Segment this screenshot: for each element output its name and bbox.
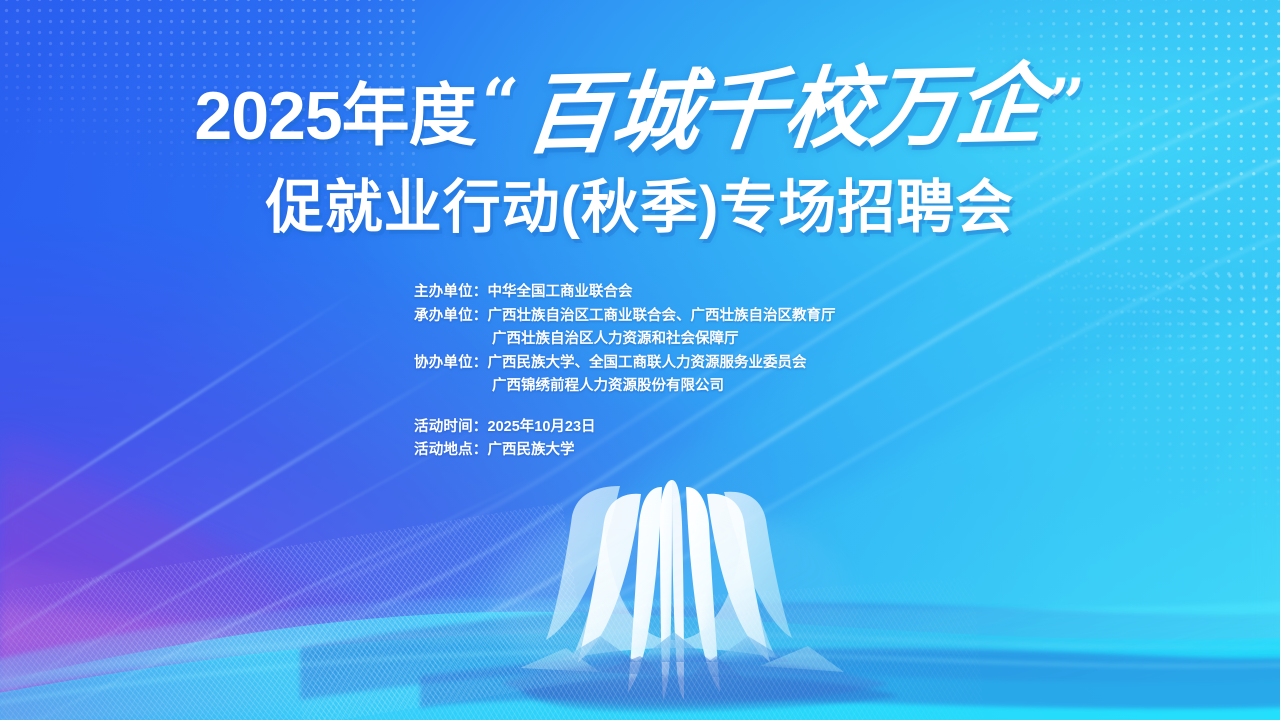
quote-open-mark: “ bbox=[482, 66, 520, 136]
poster-canvas: 2025年度 “ 百城千校万企 ” 促就业行动(秋季)专场招聘会 主办单位：中华… bbox=[0, 0, 1280, 720]
quote-close-mark: ” bbox=[1048, 66, 1086, 136]
organizer-value: 中华全国工商业联合会 bbox=[488, 284, 633, 300]
event-details-block: 主办单位：中华全国工商业联合会 承办单位：广西壮族自治区工商业联合会、广西壮族自… bbox=[414, 281, 836, 463]
detail-row-organizer: 主办单位：中华全国工商业联合会 bbox=[414, 281, 836, 305]
detail-spacer bbox=[414, 399, 836, 416]
detail-row-date: 活动时间：2025年10月23日 bbox=[414, 416, 836, 440]
venue-label: 活动地点： bbox=[414, 442, 488, 458]
host-value-line2: 广西壮族自治区人力资源和社会保障厅 bbox=[492, 331, 739, 347]
detail-row-host-cont: 广西壮族自治区人力资源和社会保障厅 bbox=[414, 328, 836, 352]
coorganizer-label: 协办单位： bbox=[414, 355, 488, 371]
detail-row-coorganizer: 协办单位：广西民族大学、全国工商联人力资源服务业委员会 bbox=[414, 352, 836, 376]
detail-row-venue: 活动地点：广西民族大学 bbox=[414, 439, 836, 463]
venue-value: 广西民族大学 bbox=[488, 442, 575, 458]
title-brush-phrase: 百城千校万企 bbox=[521, 61, 1047, 158]
detail-row-coorganizer-cont: 广西锦绣前程人力资源股份有限公司 bbox=[414, 375, 836, 399]
host-value-line1: 广西壮族自治区工商业联合会、广西壮族自治区教育厅 bbox=[488, 308, 836, 324]
coorganizer-value-line2: 广西锦绣前程人力资源股份有限公司 bbox=[492, 378, 724, 394]
subtitle: 促就业行动(秋季)专场招聘会 bbox=[0, 176, 1280, 241]
date-value: 2025年10月23日 bbox=[488, 419, 596, 435]
title-year-prefix: 2025年度 bbox=[194, 82, 475, 152]
coorganizer-value-line1: 广西民族大学、全国工商联人力资源服务业委员会 bbox=[488, 355, 807, 371]
poster-content: 2025年度 “ 百城千校万企 ” 促就业行动(秋季)专场招聘会 主办单位：中华… bbox=[0, 0, 1280, 720]
main-title: 2025年度 “ 百城千校万企 ” bbox=[0, 66, 1280, 152]
detail-row-host: 承办单位：广西壮族自治区工商业联合会、广西壮族自治区教育厅 bbox=[414, 305, 836, 329]
date-label: 活动时间： bbox=[414, 419, 488, 435]
organizer-label: 主办单位： bbox=[414, 284, 488, 300]
host-label: 承办单位： bbox=[414, 308, 488, 324]
